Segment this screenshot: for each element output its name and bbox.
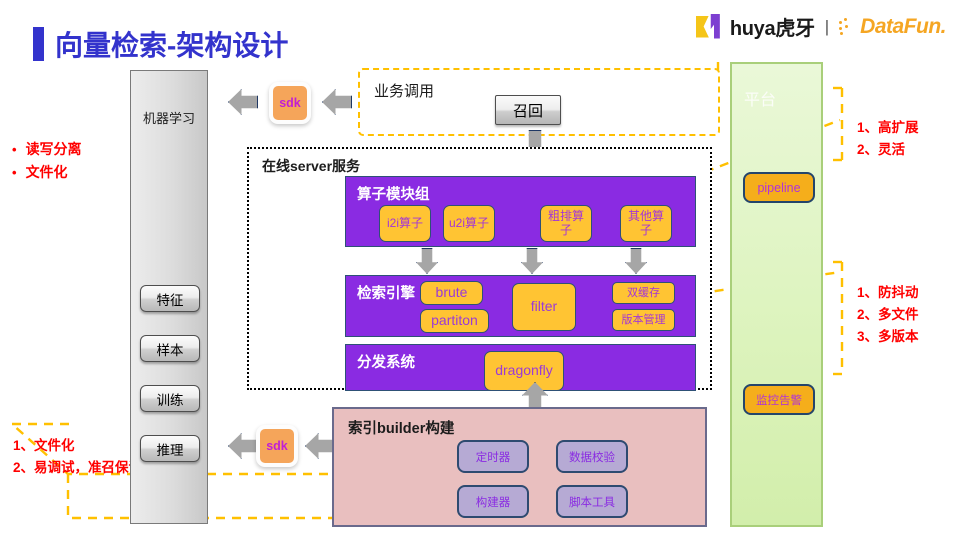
online-server-group: 在线server服务 算子模块组 i2i算子 u2i算子 粗排算子 其他算子 检…: [247, 147, 712, 390]
arrow-left-to-ml-icon: [228, 89, 258, 115]
arrow-down-op-to-engine-3-icon: [625, 248, 647, 274]
platform-column: 平台 pipeline 监控告警: [730, 62, 823, 527]
chip-i2i-operator[interactable]: i2i算子: [379, 205, 431, 242]
right-callout-top-note-1: 1、高扩展: [857, 118, 919, 139]
online-server-label: 在线server服务: [262, 156, 360, 176]
huya-wordmark: huya虎牙: [730, 12, 815, 41]
distribution-system-title: 分发系统: [357, 351, 415, 372]
arrow-left-to-sdk-top-icon: [322, 89, 352, 115]
machine-learning-column: 机器学习 特征 样本 训练 推理: [130, 70, 208, 524]
chip-coarse-rank-operator[interactable]: 粗排算子: [540, 205, 592, 242]
slide-canvas: 向量检索-架构设计 huya虎牙 | DataFun. • 读写分离 • 文件化…: [0, 0, 960, 540]
arrow-down-op-to-engine-2-icon: [521, 248, 543, 274]
right-callout-bottom-note-1: 1、防抖动: [857, 283, 919, 304]
chip-partiton[interactable]: partiton: [420, 309, 489, 333]
chip-builder[interactable]: 构建器: [457, 485, 529, 518]
right-callout-top-note-2: 2、灵活: [857, 140, 905, 161]
arrow-down-op-to-engine-1-icon: [416, 248, 438, 274]
bullet-marker: •: [12, 140, 17, 161]
ml-column-title: 机器学习: [131, 108, 207, 127]
huya-logo-icon: [696, 14, 722, 40]
retrieval-engine-title: 检索引擎: [357, 282, 415, 303]
index-builder-group: 索引builder构建 定时器 数据校验 构建器 脚本工具: [332, 407, 707, 527]
chip-script-tool[interactable]: 脚本工具: [556, 485, 628, 518]
ml-button-inference[interactable]: 推理: [140, 435, 200, 462]
chip-double-buffer[interactable]: 双缓存: [612, 282, 675, 304]
chip-other-operator[interactable]: 其他算子: [620, 205, 672, 242]
chip-filter[interactable]: filter: [512, 283, 576, 331]
chip-monitoring-alert[interactable]: 监控告警: [743, 384, 815, 415]
arrow-left-to-sdk-bottom-icon: [305, 433, 335, 459]
operator-module-title: 算子模块组: [357, 183, 430, 204]
bullet-label: 读写分离: [26, 138, 82, 160]
left-bullet-list: • 读写分离 • 文件化: [12, 138, 82, 184]
business-call-label: 业务调用: [374, 80, 434, 101]
right-callout-bottom-note-3: 3、多版本: [857, 327, 919, 348]
sdk-chip-top: sdk: [269, 82, 311, 124]
business-call-group: 业务调用 召回: [358, 68, 720, 136]
ml-button-sample[interactable]: 样本: [140, 335, 200, 362]
chip-version-management[interactable]: 版本管理: [612, 309, 675, 331]
platform-title: 平台: [744, 86, 776, 110]
bullet-marker: •: [12, 163, 17, 184]
page-title: 向量检索-架构设计: [33, 24, 288, 64]
recall-button[interactable]: 召回: [495, 95, 561, 125]
bullet-label: 文件化: [26, 161, 68, 183]
brand-logos: huya虎牙 | DataFun.: [696, 12, 946, 41]
chip-brute[interactable]: brute: [420, 281, 483, 305]
datafun-dots-icon: [839, 18, 852, 36]
chip-data-validation[interactable]: 数据校验: [556, 440, 628, 473]
chip-pipeline[interactable]: pipeline: [743, 172, 815, 203]
arrow-left-to-ml-bottom-icon: [228, 433, 258, 459]
distribution-system-panel: 分发系统 dragonfly: [345, 344, 696, 391]
chip-timer[interactable]: 定时器: [457, 440, 529, 473]
bottom-left-callout-note-2: 2、易调试，准召保证: [13, 458, 142, 479]
list-item: • 读写分离: [12, 138, 82, 161]
title-label: 向量检索-架构设计: [55, 24, 288, 64]
brand-separator: |: [825, 17, 829, 37]
datafun-wordmark: DataFun.: [860, 15, 946, 39]
sdk-chip-bottom: sdk: [256, 425, 298, 467]
chip-u2i-operator[interactable]: u2i算子: [443, 205, 495, 242]
ml-button-training[interactable]: 训练: [140, 385, 200, 412]
index-builder-label: 索引builder构建: [348, 417, 454, 438]
operator-module-panel: 算子模块组 i2i算子 u2i算子 粗排算子 其他算子: [345, 176, 696, 247]
list-item: • 文件化: [12, 161, 82, 184]
bottom-left-callout-note-1: 1、文件化: [13, 436, 75, 457]
chip-dragonfly[interactable]: dragonfly: [484, 351, 564, 391]
ml-button-feature[interactable]: 特征: [140, 285, 200, 312]
right-callout-bottom-note-2: 2、多文件: [857, 305, 919, 326]
title-accent-bar: [33, 27, 44, 61]
retrieval-engine-panel: 检索引擎 brute partiton filter 双缓存 版本管理: [345, 275, 696, 337]
